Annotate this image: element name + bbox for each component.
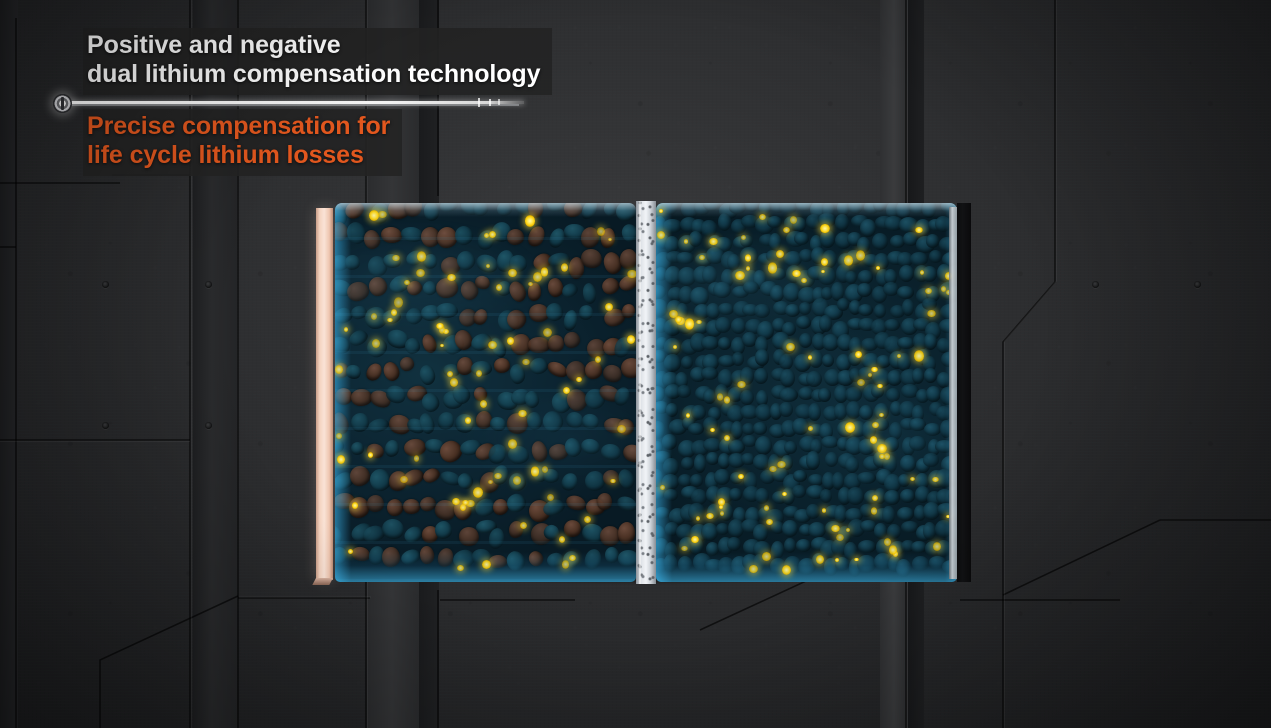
lithium-ion bbox=[790, 216, 797, 224]
lithium-ion bbox=[378, 211, 387, 218]
lithium-ion bbox=[872, 422, 880, 428]
lithium-ion bbox=[627, 335, 635, 344]
lithium-ion bbox=[717, 393, 723, 401]
lithium-ion bbox=[400, 476, 408, 483]
title-line-2: dual lithium compensation technology bbox=[87, 60, 540, 89]
lithium-ion bbox=[673, 345, 677, 349]
lithium-ion bbox=[417, 251, 426, 262]
lithium-ion bbox=[563, 387, 570, 394]
lithium-ion bbox=[414, 455, 419, 462]
subtitle-background-panel: Precise compensation for life cycle lith… bbox=[83, 109, 402, 176]
lithium-ion bbox=[480, 400, 487, 408]
lithium-ion bbox=[660, 485, 665, 491]
lithium-ion bbox=[808, 426, 814, 431]
lithium-ion bbox=[709, 238, 718, 246]
lithium-ion bbox=[696, 320, 702, 324]
lithium-ion bbox=[749, 565, 758, 573]
lithium-ion bbox=[801, 278, 807, 283]
slider-track[interactable] bbox=[69, 101, 524, 104]
lithium-ion bbox=[877, 384, 882, 388]
lithium-ion bbox=[507, 337, 514, 345]
lithium-ion bbox=[932, 477, 939, 482]
negative-terminal-plate bbox=[957, 203, 971, 582]
lithium-ion bbox=[488, 341, 497, 349]
subtitle-panel: Precise compensation for life cycle lith… bbox=[83, 109, 402, 176]
lithium-ion bbox=[762, 552, 771, 561]
lithium-ion bbox=[820, 224, 830, 234]
lithium-ion bbox=[724, 396, 731, 404]
lithium-ion bbox=[897, 354, 901, 358]
lithium-ion bbox=[447, 371, 453, 377]
lithium-ion bbox=[876, 266, 881, 270]
rivet-dot bbox=[102, 422, 109, 429]
lithium-ion bbox=[868, 373, 872, 377]
lithium-ion bbox=[336, 433, 342, 438]
lithium-ion bbox=[816, 555, 824, 564]
lithium-ion bbox=[372, 339, 379, 349]
lithium-ion bbox=[910, 477, 916, 481]
lithium-ion bbox=[657, 231, 666, 239]
lithium-ion bbox=[597, 227, 605, 236]
lithium-ion bbox=[525, 215, 535, 226]
lithium-ion bbox=[584, 516, 591, 523]
lithium-ion bbox=[706, 513, 714, 519]
lithium-ion bbox=[547, 494, 554, 501]
lithium-ion bbox=[452, 498, 460, 506]
lithium-ion bbox=[371, 313, 377, 321]
positive-current-collector bbox=[316, 208, 333, 580]
lithium-ion bbox=[605, 303, 613, 311]
lithium-ion bbox=[542, 466, 548, 473]
lithium-ion bbox=[855, 351, 861, 358]
lithium-ion bbox=[440, 344, 444, 347]
lithium-ion bbox=[792, 270, 801, 277]
lithium-ion bbox=[745, 254, 752, 262]
lithium-ion bbox=[738, 474, 744, 479]
lithium-ion bbox=[835, 558, 839, 562]
lithium-ion bbox=[699, 255, 705, 260]
battery-cell-diagram bbox=[316, 203, 971, 582]
lithium-ion bbox=[528, 282, 533, 287]
lithium-ion bbox=[337, 455, 345, 465]
lithium-ion bbox=[718, 498, 725, 506]
lithium-ion bbox=[691, 536, 699, 544]
lithium-ion bbox=[561, 263, 568, 272]
lithium-ion bbox=[710, 428, 715, 432]
lithium-ion bbox=[533, 272, 542, 282]
lithium-ion bbox=[450, 378, 459, 387]
rivet-dot bbox=[1194, 281, 1201, 288]
lithium-ion bbox=[394, 297, 403, 308]
lithium-ion bbox=[486, 264, 490, 268]
lithium-ion bbox=[520, 522, 527, 530]
lithium-ion bbox=[877, 444, 886, 454]
lithium-ion bbox=[562, 560, 570, 569]
separator-membrane bbox=[636, 201, 656, 584]
lithium-ion bbox=[595, 356, 601, 364]
lithium-ion bbox=[335, 365, 343, 374]
lithium-ion bbox=[476, 370, 482, 378]
lithium-ion bbox=[872, 495, 878, 501]
lithium-ion bbox=[856, 250, 865, 261]
lithium-ion bbox=[457, 565, 464, 571]
cathode-layer bbox=[335, 203, 636, 582]
lithium-ion bbox=[783, 227, 790, 233]
lithium-ion bbox=[387, 318, 393, 322]
lithium-ion bbox=[559, 536, 566, 543]
lithium-ion bbox=[513, 476, 521, 485]
rivet-dot bbox=[1092, 281, 1099, 288]
lithium-ion bbox=[391, 309, 397, 317]
lithium-ion bbox=[776, 250, 784, 258]
lithium-ion bbox=[915, 227, 923, 233]
lithium-ion bbox=[488, 480, 493, 484]
lithium-ion bbox=[436, 323, 444, 329]
lithium-ion bbox=[686, 413, 690, 418]
lithium-ion bbox=[489, 231, 496, 238]
lithium-ion bbox=[543, 328, 552, 337]
lithium-ion bbox=[871, 367, 877, 372]
lithium-ion bbox=[821, 270, 825, 273]
lithium-ion bbox=[447, 274, 456, 281]
lithium-ion bbox=[684, 239, 689, 244]
lithium-ion bbox=[569, 555, 576, 561]
lithium-ion bbox=[696, 516, 700, 521]
lithium-ion bbox=[508, 269, 517, 278]
lithium-ion bbox=[927, 310, 936, 317]
lithium-ion bbox=[854, 558, 858, 562]
lithium-ion bbox=[518, 410, 527, 417]
caption-divider-slider[interactable] bbox=[53, 94, 513, 112]
lithium-ion bbox=[925, 288, 932, 294]
lithium-ion bbox=[914, 350, 924, 362]
lithium-ion bbox=[831, 525, 840, 532]
lithium-ion bbox=[870, 436, 878, 443]
lithium-ion bbox=[720, 511, 724, 516]
lithium-ion bbox=[465, 417, 471, 424]
slider-knob[interactable] bbox=[53, 94, 72, 113]
lithium-ion bbox=[741, 235, 747, 241]
lithium-ion bbox=[821, 258, 828, 266]
lithium-ion bbox=[496, 284, 502, 291]
subtitle-line-2: life cycle lithium losses bbox=[87, 141, 390, 170]
lithium-ion bbox=[746, 266, 750, 271]
lithium-ion bbox=[920, 270, 924, 275]
lithium-ion bbox=[617, 425, 626, 433]
lithium-ion bbox=[610, 479, 615, 484]
slider-tick-mark bbox=[478, 98, 480, 107]
lithium-ion bbox=[735, 271, 745, 281]
lithium-ion bbox=[766, 519, 773, 525]
lithium-ion bbox=[846, 528, 851, 532]
title-line-1: Positive and negative bbox=[87, 31, 540, 60]
rivet-dot bbox=[205, 422, 212, 429]
lithium-ion bbox=[768, 262, 778, 274]
lithium-ion bbox=[941, 286, 946, 292]
rivet-dot bbox=[205, 281, 212, 288]
lithium-ion bbox=[845, 422, 855, 433]
lithium-ion bbox=[348, 549, 354, 554]
lithium-ion bbox=[933, 542, 942, 551]
lithium-ion bbox=[759, 214, 766, 220]
lithium-ion bbox=[522, 359, 530, 366]
lithium-ion bbox=[836, 534, 844, 541]
lithium-ion bbox=[857, 379, 865, 386]
lithium-ion bbox=[764, 505, 770, 511]
lithium-ion bbox=[685, 318, 694, 329]
lithium-ion bbox=[808, 355, 812, 360]
scene-viewport: Positive and negative dual lithium compe… bbox=[0, 0, 1271, 728]
lithium-ion bbox=[769, 466, 777, 473]
lithium-ion bbox=[531, 466, 540, 476]
lithium-ion bbox=[368, 452, 373, 458]
lithium-ion bbox=[822, 508, 827, 512]
lithium-ion bbox=[659, 209, 663, 213]
lithium-ion bbox=[782, 565, 791, 576]
slider-tick-mark bbox=[489, 99, 491, 106]
lithium-ion bbox=[352, 502, 358, 508]
slider-track-shadow bbox=[69, 104, 519, 106]
lithium-ion bbox=[404, 280, 411, 285]
lithium-ion bbox=[786, 343, 794, 351]
lithium-ion bbox=[482, 560, 491, 569]
lithium-ion bbox=[782, 492, 787, 496]
lithium-ion bbox=[473, 487, 483, 498]
lithium-ion bbox=[494, 473, 502, 479]
separator-edge-highlight bbox=[639, 201, 641, 584]
lithium-ion bbox=[844, 255, 853, 266]
lithium-ion bbox=[871, 507, 877, 515]
anode-layer bbox=[656, 203, 957, 582]
lithium-ion bbox=[608, 238, 612, 241]
rivet-dot bbox=[102, 281, 109, 288]
lithium-ion bbox=[416, 269, 425, 277]
lithium-ion bbox=[627, 270, 636, 279]
anode-lithium-ions bbox=[656, 203, 957, 582]
lithium-ion bbox=[576, 377, 582, 383]
lithium-ion bbox=[724, 435, 730, 441]
lithium-ion bbox=[737, 381, 747, 389]
negative-current-collector bbox=[949, 207, 957, 579]
slider-tick-mark bbox=[498, 99, 500, 105]
lithium-ion bbox=[392, 255, 400, 262]
slider-knob-indicator bbox=[61, 97, 64, 110]
cathode-lithium-ions bbox=[335, 203, 636, 582]
lithium-ion bbox=[879, 413, 884, 417]
subtitle-line-1: Precise compensation for bbox=[87, 112, 390, 141]
lithium-ion bbox=[777, 461, 786, 468]
title-panel: Positive and negative dual lithium compe… bbox=[83, 28, 552, 95]
lithium-ion bbox=[344, 327, 348, 332]
title-background-panel: Positive and negative dual lithium compe… bbox=[83, 28, 552, 95]
lithium-ion bbox=[681, 546, 688, 551]
lithium-ion bbox=[508, 439, 517, 449]
